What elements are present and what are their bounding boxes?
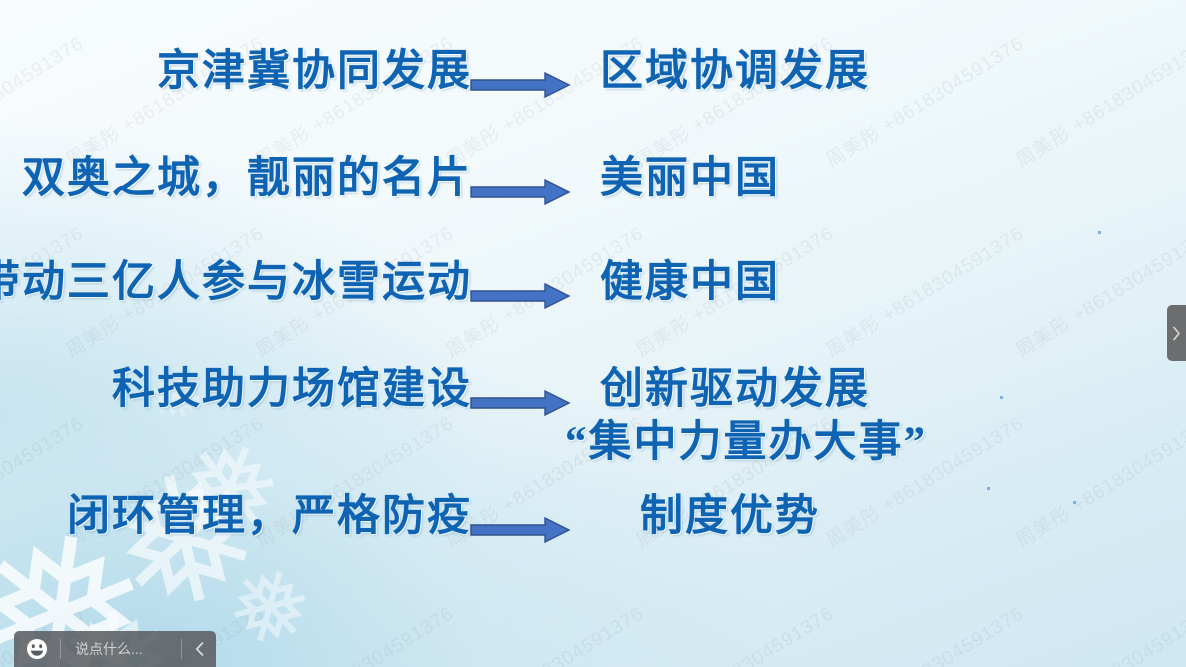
row-right-label: 区域协调发展 [600,36,1070,98]
row-left-text: 双奥之城，靓丽的名片 [22,155,472,202]
row-left-label: 科技助力场馆建设 [112,354,472,416]
row-arrow [470,179,570,205]
row-arrow [470,390,570,416]
row-right-text: 制度优势 [565,481,895,543]
row-right-text: 健康中国 [600,259,780,306]
row-right-label: “集中力量办大事”制度优势 [565,407,895,543]
comment-input[interactable]: 说点什么... [61,631,181,667]
drawer-toggle-handle[interactable] [1167,305,1186,361]
row-left-text: 科技助力场馆建设 [112,366,472,413]
slide-canvas: 周美彤 +8618304591376周美彤 +8618304591376周美彤 … [0,0,1186,667]
right-arrow-icon [470,390,570,416]
row-left-label: 带动三亿人参与冰雪运动 [0,247,472,309]
row-left-text: 京津冀协同发展 [157,48,472,95]
row-right-label: 健康中国 [600,247,1070,309]
right-arrow-icon [470,179,570,205]
row-arrow [470,72,570,98]
row-arrow [470,283,570,309]
row-left-text: 带动三亿人参与冰雪运动 [0,259,472,306]
right-arrow-icon [470,72,570,98]
row-left-text: 闭环管理，严格防疫 [67,493,472,540]
mapping-rows: 京津冀协同发展区域协调发展双奥之城，靓丽的名片美丽中国带动三亿人参与冰雪运动健康… [0,0,1186,667]
row-left-label: 闭环管理，严格防疫 [67,481,472,543]
comment-bar[interactable]: 说点什么... [14,631,216,667]
row-right-text: 区域协调发展 [600,48,870,95]
chevron-left-icon[interactable] [182,631,216,667]
smiley-icon[interactable] [14,631,60,667]
right-arrow-icon [470,517,570,543]
row-right-label: 美丽中国 [600,143,1070,205]
chevron-right-icon [1172,326,1181,341]
right-arrow-icon [470,283,570,309]
row-arrow [470,517,570,543]
row-left-label: 京津冀协同发展 [157,36,472,98]
row-left-label: 双奥之城，靓丽的名片 [22,143,472,205]
row-right-text: “集中力量办大事” [565,407,895,469]
row-right-text: 美丽中国 [600,155,780,202]
row-right-text: 创新驱动发展 [600,366,870,413]
